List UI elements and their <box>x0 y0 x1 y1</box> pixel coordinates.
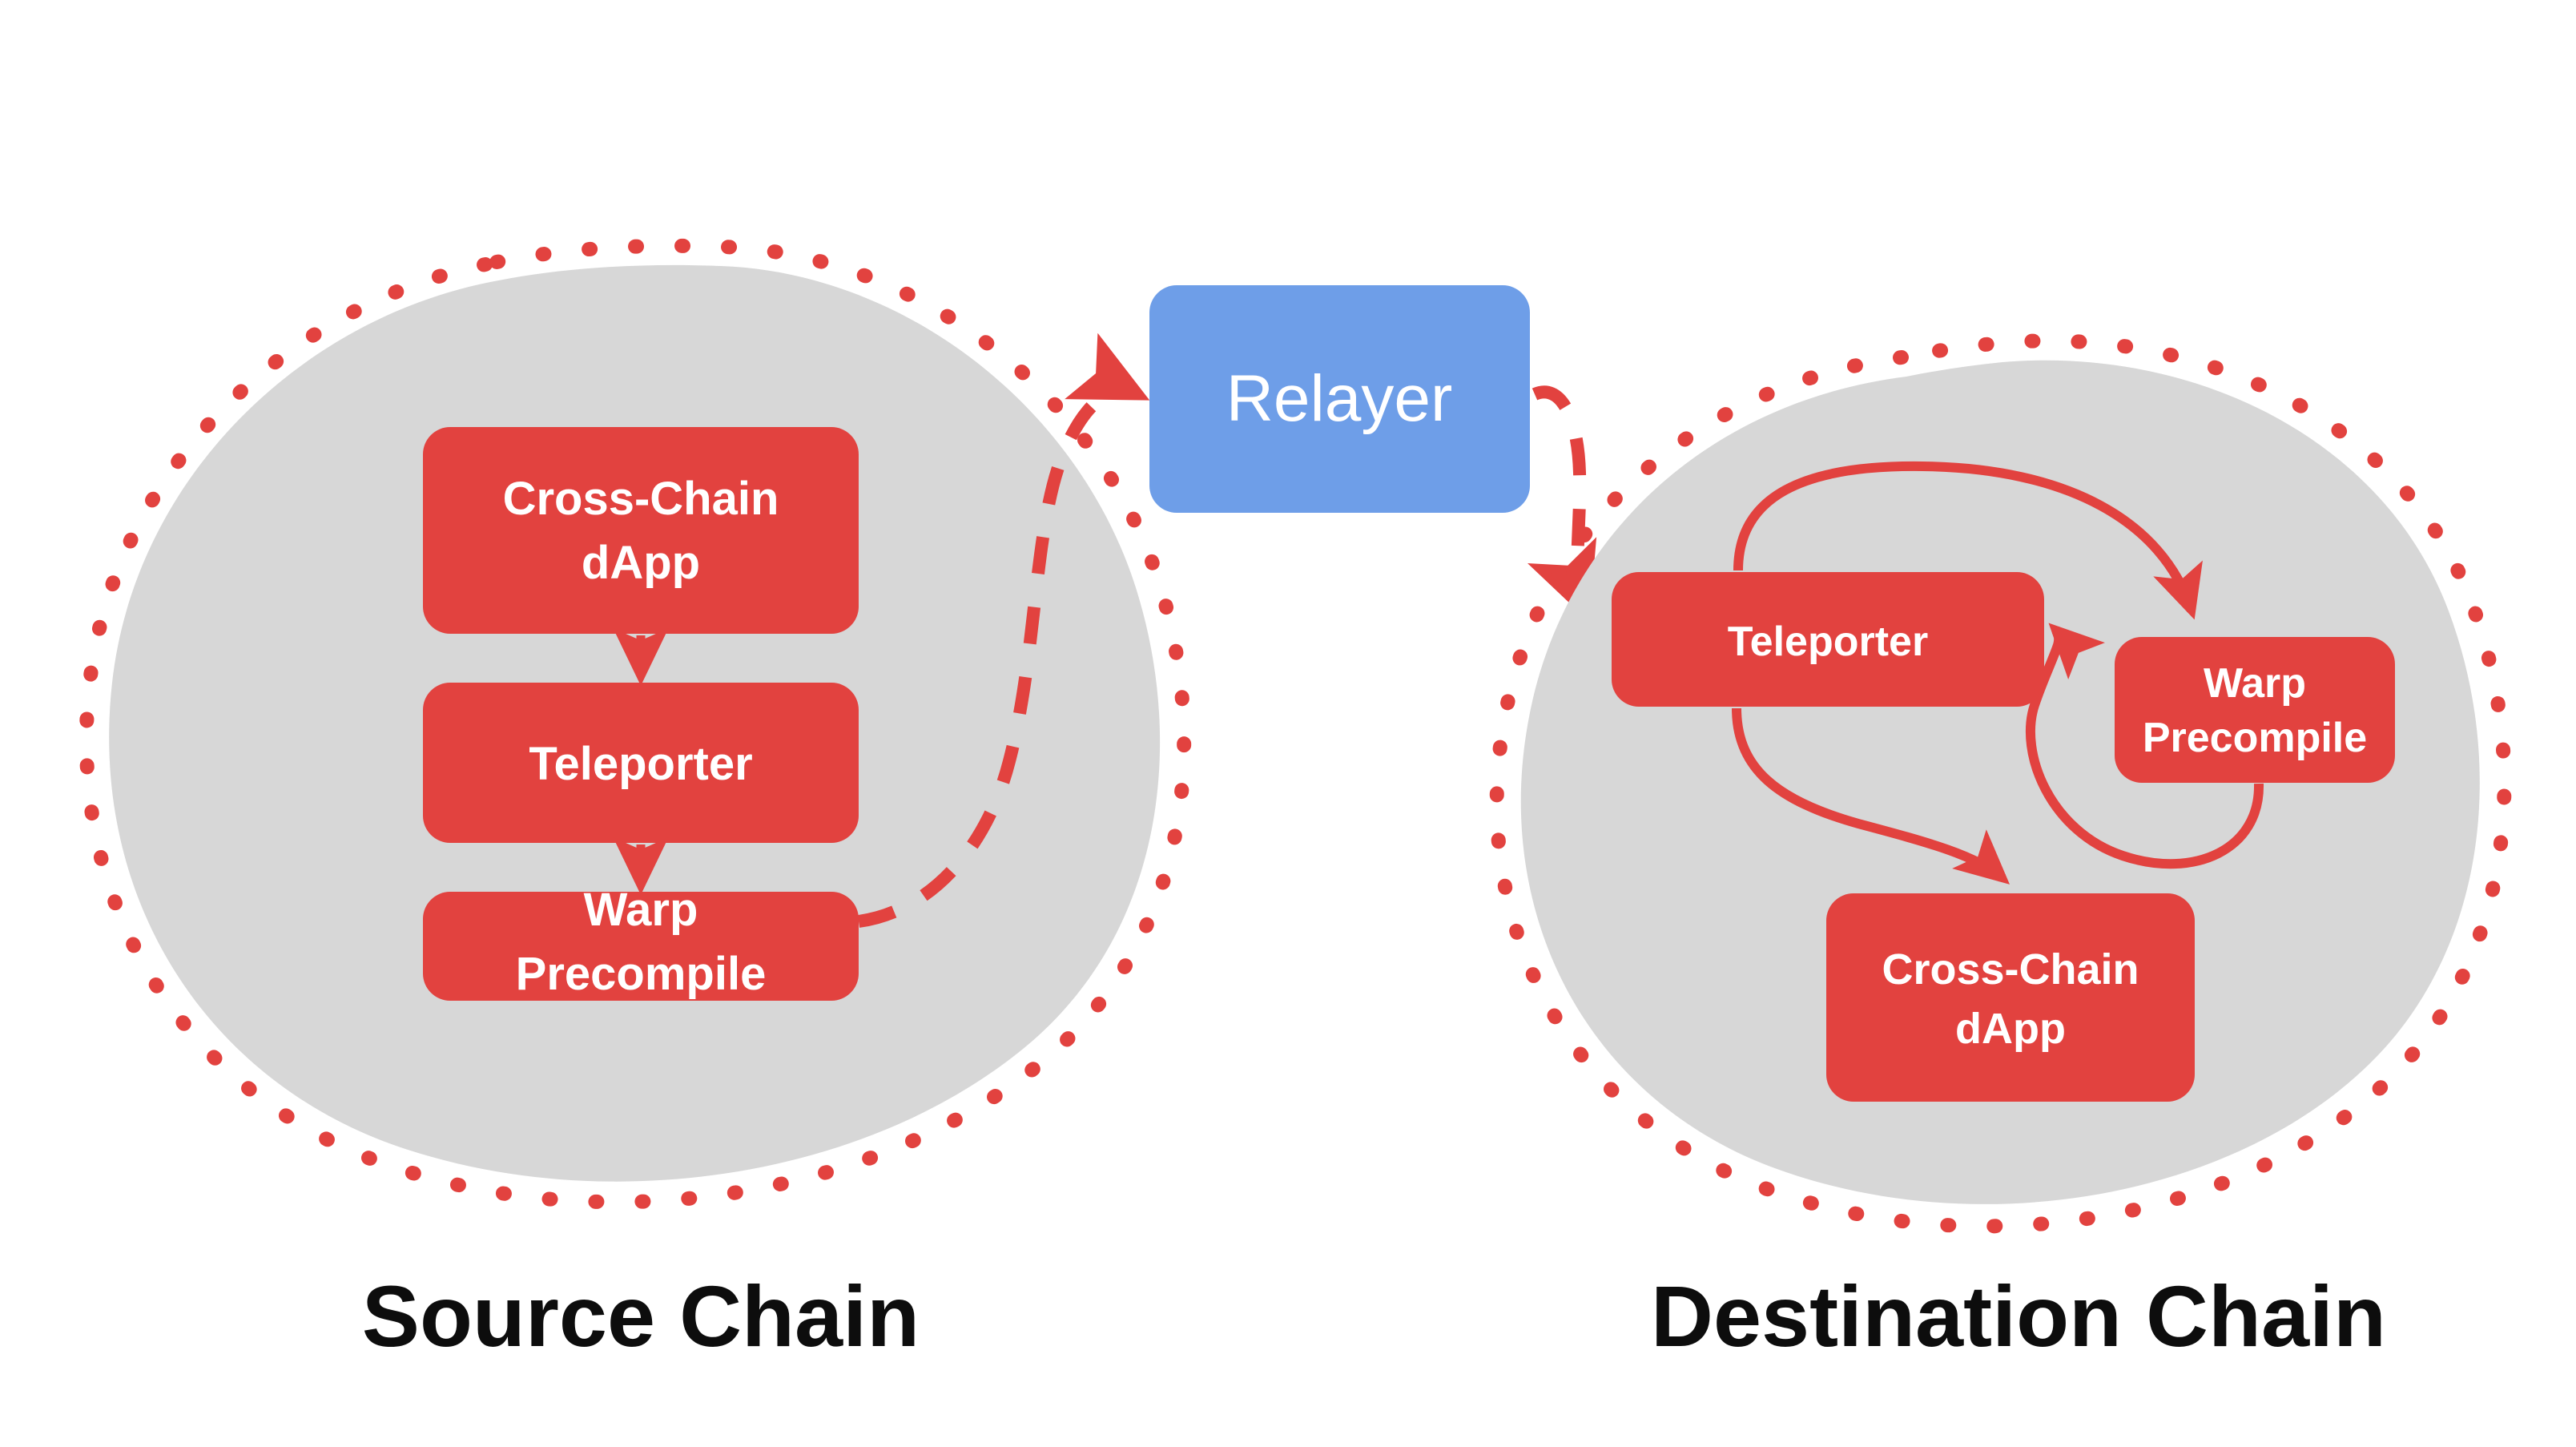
node-source-teleporter-label: Teleporter <box>529 738 752 790</box>
node-relayer-label: Relayer <box>1226 362 1453 435</box>
node-destination-warp-precompile-label-line1: Warp <box>2204 660 2306 707</box>
node-destination-teleporter-label: Teleporter <box>1728 619 1928 665</box>
node-source-warp-precompile-label-line1: Warp <box>584 884 698 936</box>
node-destination-teleporter[interactable]: Teleporter <box>1612 572 2044 707</box>
diagram-canvas: Cross-Chain dApp Teleporter Warp Precomp… <box>0 0 2576 1447</box>
node-source-warp-precompile-label-line2: Precompile <box>516 948 767 1000</box>
source-chain-caption: Source Chain <box>362 1268 920 1364</box>
node-source-cross-chain-dapp[interactable]: Cross-Chain dApp <box>423 427 859 634</box>
node-source-cross-chain-dapp-label-line1: Cross-Chain <box>503 473 779 525</box>
teleporter-flow-diagram: Cross-Chain dApp Teleporter Warp Precomp… <box>0 0 2576 1447</box>
node-destination-warp-precompile[interactable]: Warp Precompile <box>2115 637 2395 783</box>
node-source-warp-precompile[interactable]: Warp Precompile <box>423 884 859 1001</box>
node-destination-cross-chain-dapp-label-line1: Cross-Chain <box>1882 945 2139 994</box>
node-relayer[interactable]: Relayer <box>1149 285 1530 513</box>
node-destination-cross-chain-dapp-box[interactable] <box>1826 893 2195 1102</box>
node-destination-warp-precompile-label-line2: Precompile <box>2143 715 2367 761</box>
node-source-cross-chain-dapp-box[interactable] <box>423 427 859 634</box>
destination-chain-caption: Destination Chain <box>1651 1268 2386 1364</box>
node-source-teleporter[interactable]: Teleporter <box>423 683 859 843</box>
node-destination-cross-chain-dapp[interactable]: Cross-Chain dApp <box>1826 893 2195 1102</box>
node-source-cross-chain-dapp-label-line2: dApp <box>582 537 700 589</box>
node-destination-cross-chain-dapp-label-line2: dApp <box>1955 1005 2066 1053</box>
